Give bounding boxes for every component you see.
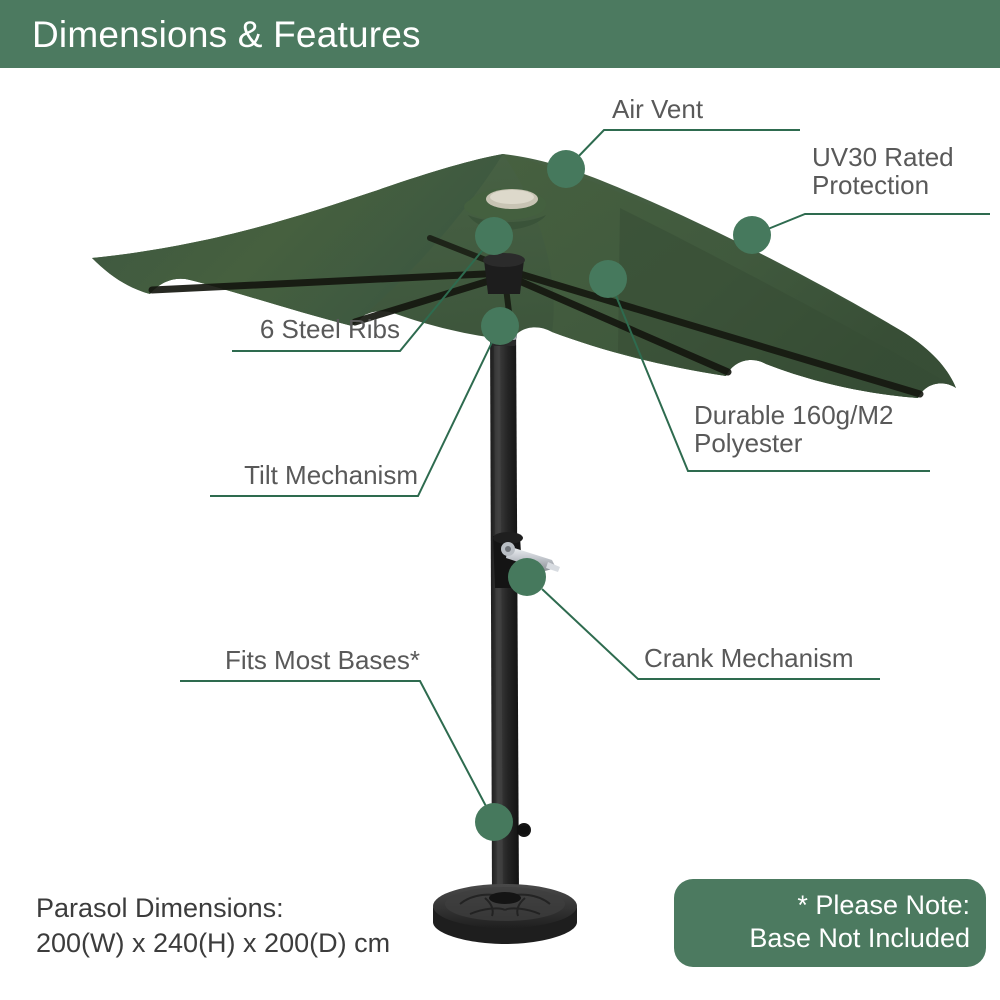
parasol-illustration xyxy=(0,68,1000,1000)
callout-label-six-steel-ribs: 6 Steel Ribs xyxy=(232,315,400,343)
product-illustration-stage: Air Vent UV30 Rated Protection Durable 1… xyxy=(0,68,1000,1000)
please-note-box: * Please Note: Base Not Included xyxy=(674,879,986,967)
callout-label-durable-polyester: Durable 160g/M2 Polyester xyxy=(694,401,893,457)
parasol-base xyxy=(433,884,577,944)
callout-label-fits-most-bases: Fits Most Bases* xyxy=(180,646,420,674)
callout-label-uv30-rated-protection: UV30 Rated Protection xyxy=(812,143,954,199)
callout-label-crank-mechanism: Crank Mechanism xyxy=(644,644,854,672)
callout-label-air-vent: Air Vent xyxy=(612,95,703,123)
page-title: Dimensions & Features xyxy=(32,14,421,56)
base-fitting-knob xyxy=(517,823,531,837)
header-banner: Dimensions & Features xyxy=(0,0,1000,68)
parasol-dimensions-text: Parasol Dimensions: 200(W) x 240(H) x 20… xyxy=(36,891,390,960)
tilt-mechanism-hardware xyxy=(491,330,517,346)
callout-label-tilt-mechanism: Tilt Mechanism xyxy=(210,461,418,489)
infographic-page: Dimensions & Features xyxy=(0,0,1000,1000)
crank-mechanism-hardware xyxy=(493,532,560,588)
